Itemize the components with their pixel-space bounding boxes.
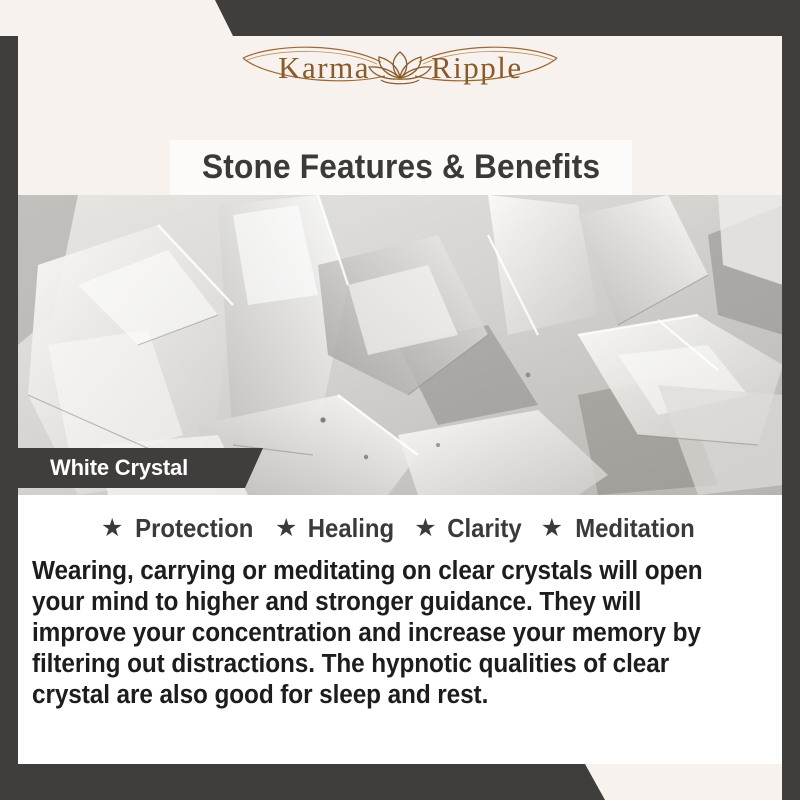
feature-item: ★ Protection bbox=[101, 513, 259, 544]
star-icon: ★ bbox=[275, 516, 297, 541]
title-banner: Stone Features & Benefits bbox=[170, 140, 632, 195]
star-icon: ★ bbox=[414, 516, 436, 541]
feature-item: ★ Clarity bbox=[414, 513, 524, 544]
description-text: Wearing, carrying or meditating on clear… bbox=[32, 556, 734, 712]
stone-name-label: White Crystal bbox=[18, 455, 188, 481]
star-icon: ★ bbox=[541, 516, 563, 541]
feature-item: ★ Meditation bbox=[541, 513, 700, 544]
feature-label: Healing bbox=[308, 513, 394, 544]
feature-label: Clarity bbox=[447, 513, 521, 544]
frame-left-bar bbox=[0, 36, 18, 800]
feature-item: ★ Healing bbox=[275, 513, 398, 544]
frame-bottom-bar bbox=[0, 764, 800, 800]
page-title: Stone Features & Benefits bbox=[202, 148, 600, 187]
brand-name-right: Ripple bbox=[431, 50, 523, 85]
brand-name-left: Karma bbox=[278, 50, 370, 85]
feature-label: Protection bbox=[136, 513, 254, 544]
feature-label: Meditation bbox=[575, 513, 695, 544]
frame-right-bar bbox=[782, 0, 800, 800]
content-panel: ★ Protection ★ Healing ★ Clarity ★ Medit… bbox=[18, 495, 783, 764]
white-crystal-cluster-photo: White Crystal bbox=[18, 195, 783, 495]
features-row: ★ Protection ★ Healing ★ Clarity ★ Medit… bbox=[18, 495, 783, 544]
poster-root: Karma Ripple Stone Features & Benefits bbox=[0, 0, 800, 800]
star-icon: ★ bbox=[101, 516, 123, 541]
lotus-icon: Karma Ripple bbox=[235, 42, 565, 104]
brand-logo: Karma Ripple bbox=[0, 42, 800, 104]
photo-caption-bar: White Crystal bbox=[18, 448, 263, 488]
